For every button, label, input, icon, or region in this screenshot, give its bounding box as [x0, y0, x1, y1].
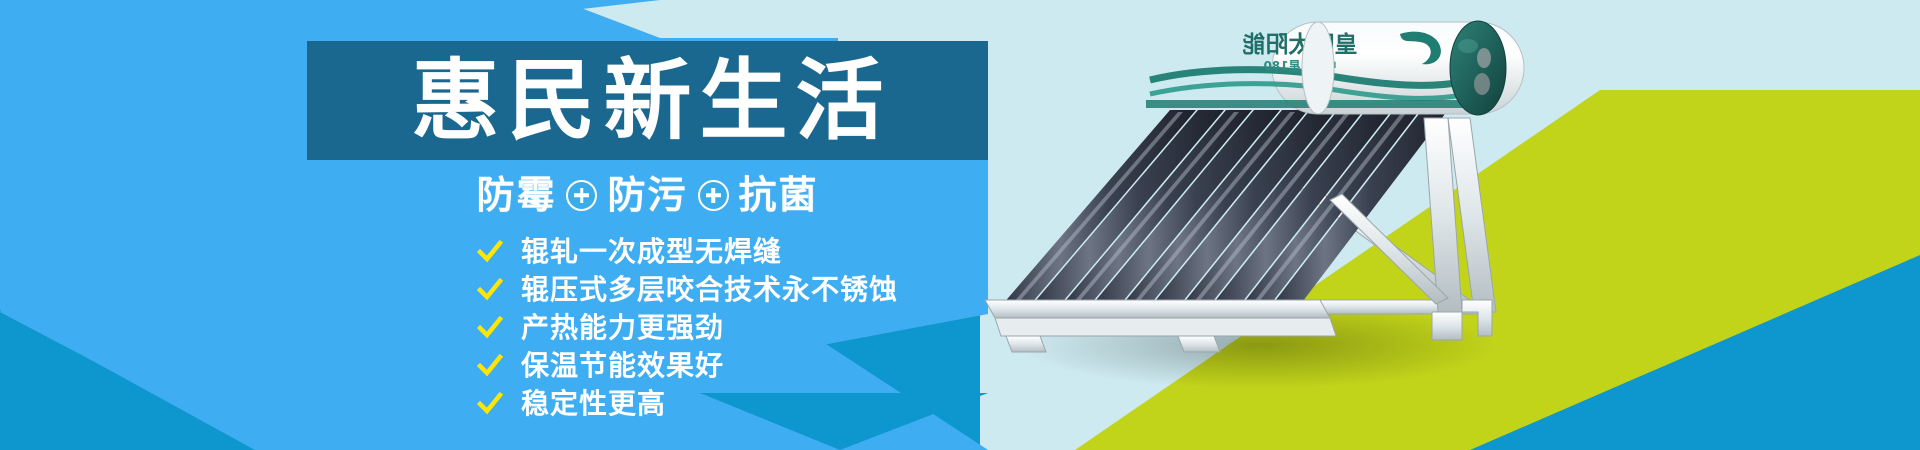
feature-label: 辊轧一次成型无焊缝 — [521, 238, 782, 266]
tank-cap-highlight — [1458, 39, 1478, 53]
list-item: 产热能力更强劲 — [477, 313, 898, 343]
plus-circle-icon — [698, 180, 729, 211]
list-item: 保温节能效果好 — [477, 351, 898, 381]
tank-baseline-stripe — [1146, 100, 1466, 108]
list-item: 辊轧一次成型无焊缝 — [477, 237, 898, 267]
feature-label: 辊压式多层咬合技术永不锈蚀 — [521, 276, 898, 304]
tank-fitting-upper — [1477, 48, 1491, 68]
check-icon — [477, 315, 503, 341]
banner-subtitle: 防霉 防污 抗菌 — [307, 170, 988, 220]
feature-list: 辊轧一次成型无焊缝 辊压式多层咬合技术永不锈蚀 产热能力更强劲 保温节能效果好 — [477, 237, 898, 419]
subtitle-word-3: 抗菌 — [739, 176, 819, 214]
feature-label: 保温节能效果好 — [521, 352, 724, 380]
feature-label: 产热能力更强劲 — [521, 314, 724, 342]
tank-end-cap-left — [1302, 22, 1334, 114]
feature-label: 稳定性更高 — [521, 390, 666, 418]
list-item: 稳定性更高 — [477, 389, 898, 419]
check-icon — [477, 391, 503, 417]
subtitle-word-1: 防霉 — [476, 176, 556, 214]
check-icon — [477, 353, 503, 379]
tank-fitting-lower — [1474, 73, 1490, 95]
tank-brand-text: 皇明太阳能 — [1243, 31, 1358, 58]
tank-end-cap-right — [1450, 21, 1506, 115]
banner-title-box: 惠民新生活 — [307, 41, 988, 160]
heater-tank: 皇明太阳能 中天之星180 — [1146, 21, 1524, 115]
promo-banner: 皇明太阳能 中天之星180 惠民新生活 防霉 防污 抗菌 — [0, 0, 1920, 450]
plus-circle-icon — [566, 180, 597, 211]
page-title: 惠民新生活 — [403, 57, 891, 145]
subtitle-word-2: 防污 — [607, 176, 687, 214]
evacuated-tube-array — [1002, 110, 1448, 305]
check-icon — [477, 239, 503, 265]
check-icon — [477, 277, 503, 303]
list-item: 辊压式多层咬合技术永不锈蚀 — [477, 275, 898, 305]
